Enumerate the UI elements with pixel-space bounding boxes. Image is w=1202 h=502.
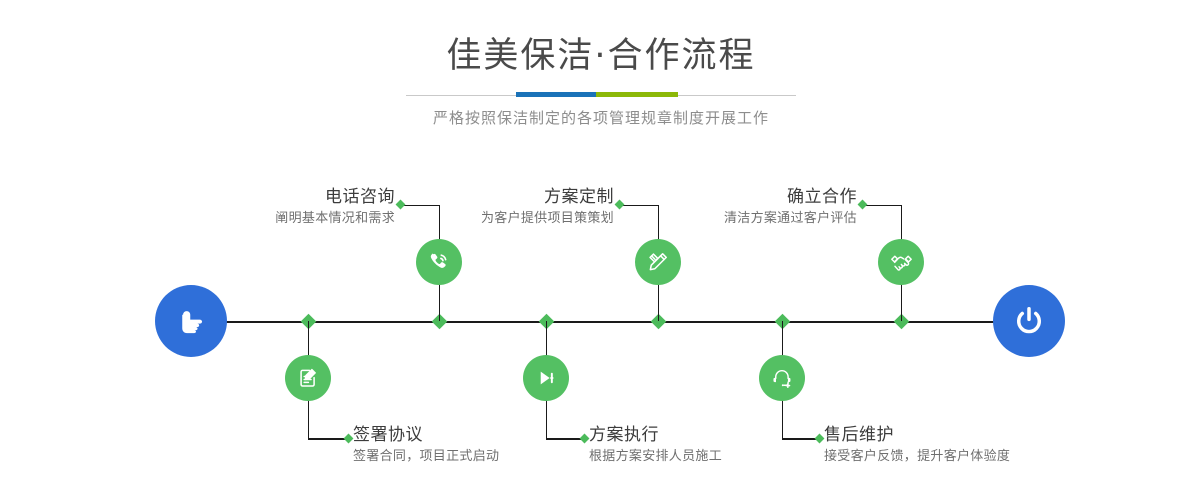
step-label-6: 售后维护 接受客户反馈，提升客户体验度 <box>824 424 1124 467</box>
step-desc-6: 接受客户反馈，提升客户体验度 <box>824 447 1124 467</box>
label-marker-2 <box>344 434 354 444</box>
step-node-6[interactable] <box>759 355 805 401</box>
step-node-4[interactable] <box>523 355 569 401</box>
step-title-1: 电话咨询 <box>180 186 395 208</box>
step-desc-3: 为客户提供项目策策划 <box>400 209 614 229</box>
pointing-hand-icon <box>171 301 211 341</box>
step-label-5: 确立合作 清洁方案通过客户评估 <box>640 186 857 229</box>
step-title-3: 方案定制 <box>400 186 614 208</box>
step-label-2: 签署协议 签署合同，项目正式启动 <box>353 424 613 467</box>
step-desc-4: 根据方案安排人员施工 <box>589 447 849 467</box>
step-title-4: 方案执行 <box>589 424 849 446</box>
document-pen-icon <box>295 365 321 391</box>
label-marker-3 <box>615 200 625 210</box>
phone-call-icon <box>426 249 452 275</box>
step-title-5: 确立合作 <box>640 186 857 208</box>
step-label-1: 电话咨询 阐明基本情况和需求 <box>180 186 395 229</box>
step-title-6: 售后维护 <box>824 424 1124 446</box>
label-marker-5 <box>858 200 868 210</box>
step-label-4: 方案执行 根据方案安排人员施工 <box>589 424 849 467</box>
flow-end-node[interactable] <box>993 285 1065 357</box>
flow-start-node[interactable] <box>155 285 227 357</box>
customer-service-add-icon <box>769 365 795 391</box>
step-desc-5: 清洁方案通过客户评估 <box>640 209 857 229</box>
step-node-5[interactable] <box>878 239 924 285</box>
step-desc-2: 签署合同，项目正式启动 <box>353 447 613 467</box>
process-flow-diagram: 电话咨询 阐明基本情况和需求 签署协议 签署合同，项目正式启动 <box>0 0 1202 502</box>
handshake-icon <box>888 249 915 276</box>
flowchart-page: 佳美保洁·合作流程 严格按照保洁制定的各项管理规章制度开展工作 <box>0 0 1202 502</box>
step-desc-1: 阐明基本情况和需求 <box>180 209 395 229</box>
play-execute-icon <box>533 365 559 391</box>
pencil-ruler-icon <box>645 249 671 275</box>
step-node-1[interactable] <box>416 239 462 285</box>
step-label-3: 方案定制 为客户提供项目策策划 <box>400 186 614 229</box>
step-node-3[interactable] <box>635 239 681 285</box>
step-node-2[interactable] <box>285 355 331 401</box>
connector-horizontal-5 <box>863 205 901 207</box>
power-icon <box>1010 302 1048 340</box>
step-title-2: 签署协议 <box>353 424 613 446</box>
